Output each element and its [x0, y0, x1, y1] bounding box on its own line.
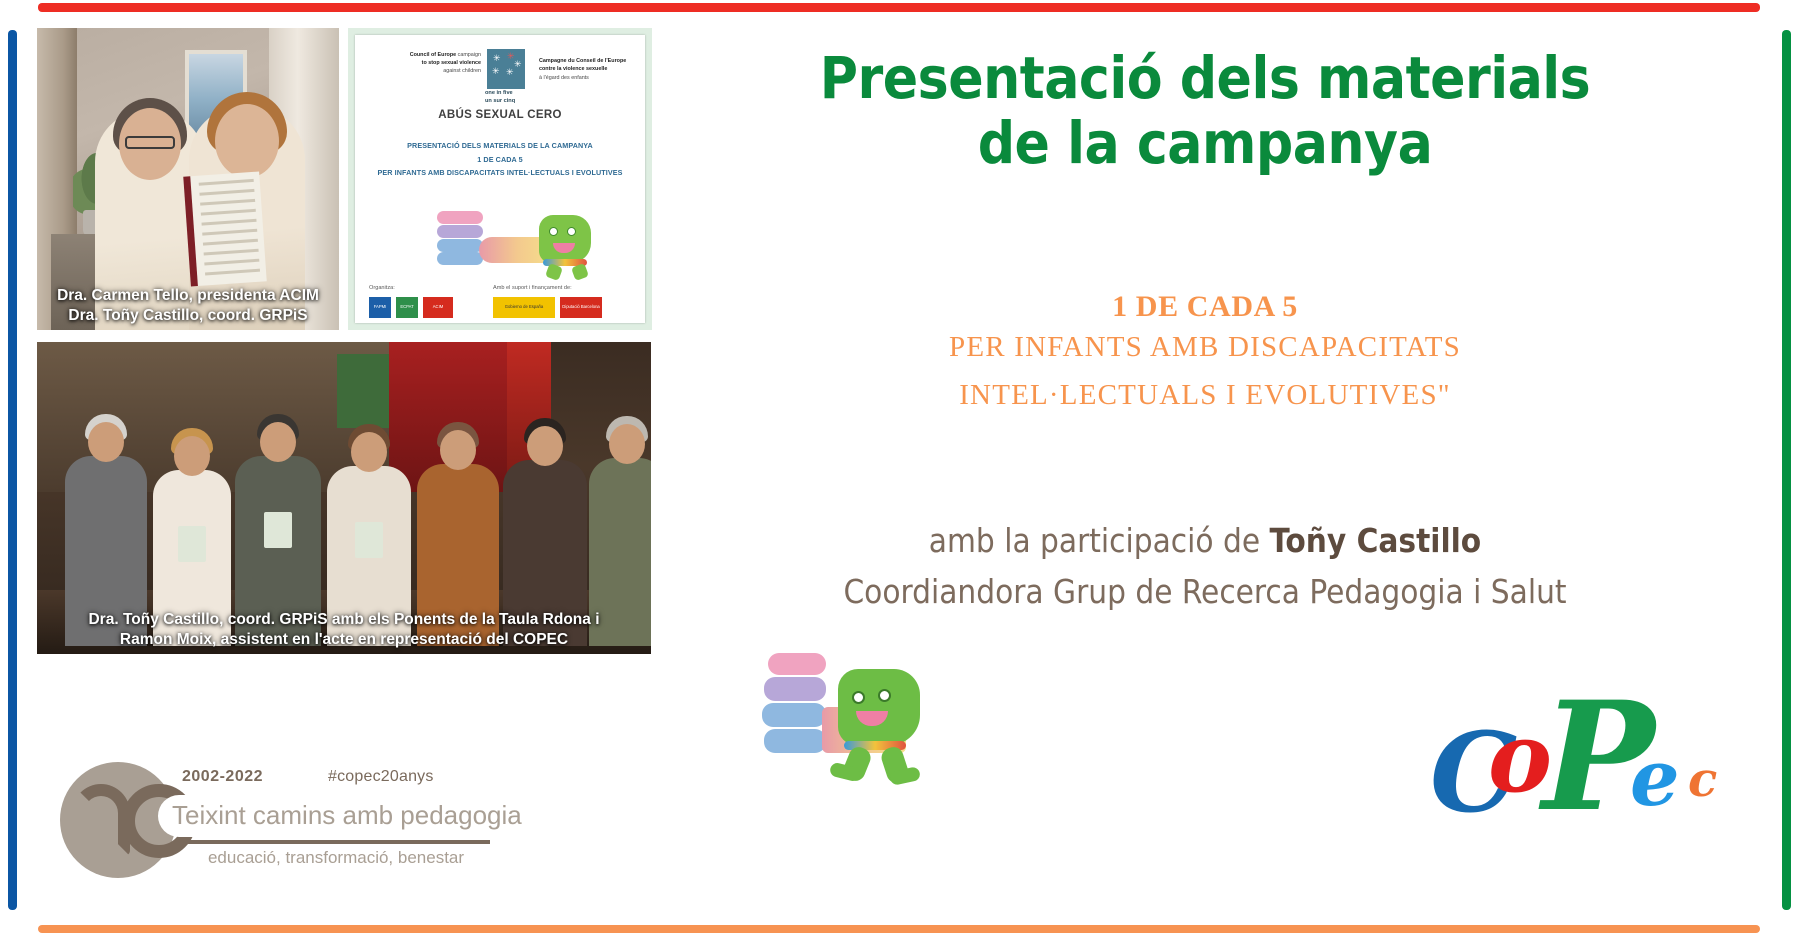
coe-en-l1: Council of Europe [410, 52, 456, 58]
frame-bar-bottom [38, 925, 1760, 933]
flyer-subtitle-line3: PER INFANTS AMB DISCAPACITATS INTEL·LECT… [365, 166, 635, 180]
logo-diputacio-barcelona: Diputació Barcelona [560, 297, 602, 318]
subtitle: 1 DE CADA 5 PER INFANTS AMB DISCAPACITAT… [700, 290, 1710, 420]
poster-canvas: Dra. Carmen Tello, presidenta ACIM Dra. … [0, 0, 1800, 940]
copec-letter-e: e [1630, 740, 1680, 818]
photo-caption-line2: Dra. Toñy Castillo, coord. GRPiS [43, 306, 333, 325]
photo-carmen-tello-tony-castillo: Dra. Carmen Tello, presidenta ACIM Dra. … [37, 28, 339, 330]
coe-en-l1b: campaign [456, 52, 481, 58]
coe-fr-l3: à l'égard des enfants [539, 74, 647, 82]
flyer-page: Council of Europe campaign to stop sexua… [355, 35, 645, 323]
copec-logo: C o P e c [1430, 690, 1730, 840]
frog-eye-left [549, 227, 558, 236]
logo-subtagline: educació, transformació, benestar [182, 848, 490, 868]
flyer-subtitle-line1: PRESENTACIÓ DELS MATERIALS DE LA CAMPANY… [365, 139, 635, 153]
flyer-organizer-logos: FAPMI ECPAT ACIM [369, 297, 453, 318]
copec-20-anys-logo: 2002-2022 #copec20anys Teixint camins am… [60, 762, 490, 878]
photo-ponents-taula-rodona: Dra. Toñy Castillo, coord. GRPiS amb els… [37, 342, 651, 654]
logo-tagline: Teixint camins amb pedagogia [172, 800, 490, 831]
coe-fr-l2: contre la violence sexuelle [539, 66, 607, 72]
photo-caption: Dra. Toñy Castillo, coord. GRPiS amb els… [37, 607, 651, 654]
flyer-organizers-label: Organitza: [369, 285, 395, 291]
frog-body [838, 669, 920, 745]
coe-fr-l1: Campagne du Conseil de l'Europe [539, 58, 626, 64]
council-of-europe-logo: Council of Europe campaign to stop sexua… [371, 49, 639, 91]
thumbs-up-mascot-large-icon [760, 645, 940, 805]
subtitle-line3: INTEL·LECTUALS I EVOLUTIVES" [700, 372, 1710, 420]
thumbs-up-mascot-icon [427, 185, 597, 277]
speaker-prefix: amb la participació de [929, 521, 1270, 560]
coe-under-l1: one in five [485, 90, 531, 98]
coe-one-in-five-text: one in five un sur cinq [485, 90, 531, 105]
frog-leg-right [571, 263, 589, 281]
page-title-line1: Presentació dels materials [700, 46, 1710, 111]
frame-bar-right [1782, 30, 1791, 910]
frame-bar-top [38, 3, 1760, 12]
copec-letter-c2: c [1688, 756, 1717, 804]
thumb-seg-2 [764, 677, 826, 701]
logo-gobierno-espana: Gobierno de España [493, 297, 555, 318]
logo-divider [182, 840, 490, 844]
photo-person-head [215, 104, 279, 178]
coe-en-l3: against children [371, 67, 481, 75]
logo-ecpat: ECPAT [396, 297, 418, 318]
page-title: Presentació dels materials de la campany… [700, 46, 1710, 176]
coe-flag-icon: ✳ ✳ ✳ ✳ ✳ [487, 49, 525, 89]
campaign-flyer-image: Council of Europe campaign to stop sexua… [348, 28, 652, 330]
speaker-role: Coordiandora Grup de Recerca Pedagogia i… [700, 566, 1710, 617]
flyer-support-logos: Gobierno de España Diputació Barcelona [493, 297, 602, 318]
coe-under-l2: un sur cinq [485, 98, 531, 106]
page-title-line2: de la campanya [700, 111, 1710, 176]
frog-eye-right [567, 227, 576, 236]
flyer-subtitle: PRESENTACIÓ DELS MATERIALS DE LA CAMPANY… [365, 139, 635, 180]
speaker-credit: amb la participació de Toñy Castillo Coo… [700, 515, 1710, 617]
subtitle-line2: PER INFANTS AMB DISCAPACITATS [700, 324, 1710, 372]
speaker-line1: amb la participació de Toñy Castillo [700, 515, 1710, 566]
photo-green-panel [337, 354, 389, 428]
logo-acim: ACIM [423, 297, 453, 318]
photo-caption-line2: Ramon Moix, assistent en l'acte en repre… [43, 630, 645, 649]
frog-eye-left [852, 691, 865, 704]
speaker-name: Toñy Castillo [1270, 521, 1482, 560]
frog-eye-right [878, 689, 891, 702]
flyer-support-label: Amb el suport i finançament de: [493, 285, 572, 291]
photo-caption-line1: Dra. Toñy Castillo, coord. GRPiS amb els… [43, 610, 645, 629]
frame-bar-left [8, 30, 17, 910]
thumb-fist [437, 211, 483, 265]
frog-body [539, 215, 591, 263]
thumb-seg-4 [764, 729, 826, 753]
glasses-icon [125, 136, 175, 149]
flyer-subtitle-line2: 1 DE CADA 5 [365, 153, 635, 167]
thumb-seg-1 [768, 653, 826, 675]
logo-years: 2002-2022 [182, 768, 263, 786]
logo-fapmi: FAPMI [369, 297, 391, 318]
coe-logo-text-en: Council of Europe campaign to stop sexua… [371, 51, 481, 75]
photo-caption: Dra. Carmen Tello, presidenta ACIM Dra. … [37, 283, 339, 330]
photo-caption-line1: Dra. Carmen Tello, presidenta ACIM [43, 286, 333, 305]
subtitle-line1: 1 DE CADA 5 [700, 290, 1710, 324]
coe-en-l2: to stop sexual violence [422, 60, 481, 66]
coe-logo-text-fr: Campagne du Conseil de l'Europe contre l… [539, 57, 647, 82]
flyer-title: ABÚS SEXUAL CERO [355, 109, 645, 121]
thumb-seg-3 [762, 703, 826, 727]
logo-hashtag: #copec20anys [328, 768, 434, 786]
photo-document [183, 171, 266, 286]
